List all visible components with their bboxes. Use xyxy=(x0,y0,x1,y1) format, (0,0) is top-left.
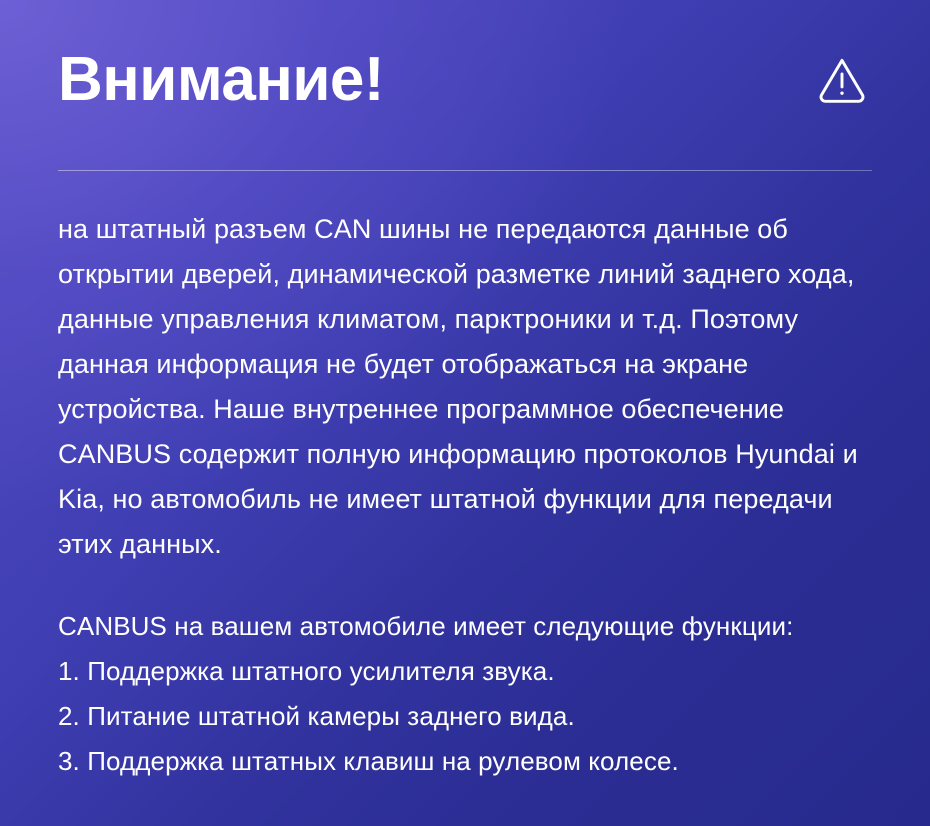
functions-intro: CANBUS на вашем автомобиле имеет следующ… xyxy=(58,604,872,649)
functions-block: CANBUS на вашем автомобиле имеет следующ… xyxy=(58,604,872,784)
warning-triangle-icon xyxy=(815,52,869,106)
list-item: 3. Поддержка штатных клавиш на рулевом к… xyxy=(58,739,872,784)
functions-list: 1. Поддержка штатного усилителя звука. 2… xyxy=(58,649,872,784)
notice-body: на штатный разъем CAN шины не передаются… xyxy=(58,170,872,784)
page-title: Внимание! xyxy=(58,49,384,121)
notice-header: Внимание! xyxy=(58,0,872,170)
list-item: 2. Питание штатной камеры заднего вида. xyxy=(58,694,872,739)
header-divider xyxy=(58,170,872,171)
list-item: 1. Поддержка штатного усилителя звука. xyxy=(58,649,872,694)
notice-paragraph: на штатный разъем CAN шины не передаются… xyxy=(58,207,872,567)
warning-notice-card: Внимание! на штатный разъем CAN шины не … xyxy=(0,0,930,826)
